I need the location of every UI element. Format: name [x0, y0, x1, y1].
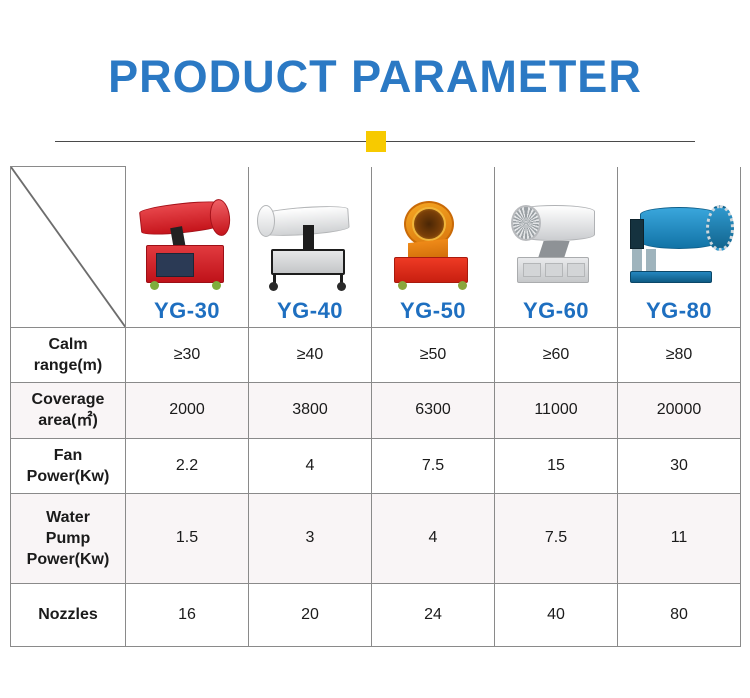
cell-calm-range-yg-50: ≥50: [372, 327, 495, 382]
product-name-2: YG-50: [400, 295, 466, 327]
row-label-line: range(m): [14, 355, 122, 376]
row-label-line: Pump: [14, 528, 122, 549]
cell-fan-power-yg-40: 4: [249, 438, 372, 493]
cell-fan-power-yg-60: 15: [495, 438, 618, 493]
table-row-water-pump-power: Water Pump Power(Kw) 1.5 3 4 7.5 11: [11, 493, 741, 583]
row-label-nozzles: Nozzles: [11, 583, 126, 646]
product-name-1: YG-40: [277, 295, 343, 327]
cell-fan-power-yg-30: 2.2: [126, 438, 249, 493]
cell-nozzles-yg-80: 80: [618, 583, 741, 646]
row-label-line: Power(Kw): [14, 466, 122, 487]
cell-nozzles-yg-60: 40: [495, 583, 618, 646]
table-row-fan-power: Fan Power(Kw) 2.2 4 7.5 15 30: [11, 438, 741, 493]
cell-calm-range-yg-80: ≥80: [618, 327, 741, 382]
cell-calm-range-yg-30: ≥30: [126, 327, 249, 382]
row-label-water-pump-power: Water Pump Power(Kw): [11, 493, 126, 583]
product-header-cell-3: YG-60: [495, 167, 618, 328]
page-title: PRODUCT PARAMETER: [0, 48, 750, 106]
table-row-coverage-area: Coverage area(㎡) 2000 3800 6300 11000 20…: [11, 382, 741, 438]
row-label-line: Calm: [14, 334, 122, 355]
table-header-row: YG-30: [11, 167, 741, 328]
product-image-yg-60: [501, 197, 611, 293]
cell-coverage-area-yg-60: 11000: [495, 382, 618, 438]
cell-coverage-area-yg-40: 3800: [249, 382, 372, 438]
product-header-cell-4: YG-80: [618, 167, 741, 328]
cell-calm-range-yg-40: ≥40: [249, 327, 372, 382]
row-label-line: Power(Kw): [14, 549, 122, 570]
cell-fan-power-yg-50: 7.5: [372, 438, 495, 493]
page-title-block: PRODUCT PARAMETER: [0, 48, 750, 106]
product-image-yg-30: [132, 197, 242, 293]
parameter-table: YG-30: [10, 166, 741, 647]
cell-nozzles-yg-50: 24: [372, 583, 495, 646]
row-label-line: Nozzles: [14, 604, 122, 625]
row-label-calm-range: Calm range(m): [11, 327, 126, 382]
cell-nozzles-yg-30: 16: [126, 583, 249, 646]
product-name-3: YG-60: [523, 295, 589, 327]
diagonal-divider-icon: [11, 167, 125, 327]
cell-water-pump-power-yg-40: 3: [249, 493, 372, 583]
row-label-line: Water: [14, 507, 122, 528]
divider-badge-icon: [366, 131, 386, 152]
cell-coverage-area-yg-30: 2000: [126, 382, 249, 438]
row-label-coverage-area: Coverage area(㎡): [11, 382, 126, 438]
product-image-yg-50: [378, 197, 488, 293]
title-divider: [55, 130, 695, 152]
cell-water-pump-power-yg-30: 1.5: [126, 493, 249, 583]
product-image-yg-80: [624, 197, 734, 293]
product-image-yg-40: [255, 197, 365, 293]
cell-coverage-area-yg-80: 20000: [618, 382, 741, 438]
cell-water-pump-power-yg-50: 4: [372, 493, 495, 583]
row-label-line: area(㎡): [14, 410, 122, 431]
cell-water-pump-power-yg-60: 7.5: [495, 493, 618, 583]
product-header-cell-2: YG-50: [372, 167, 495, 328]
product-header-cell-1: YG-40: [249, 167, 372, 328]
cell-calm-range-yg-60: ≥60: [495, 327, 618, 382]
product-name-4: YG-80: [646, 295, 712, 327]
cell-nozzles-yg-40: 20: [249, 583, 372, 646]
cell-water-pump-power-yg-80: 11: [618, 493, 741, 583]
table-corner-cell: [11, 167, 126, 328]
row-label-line: Coverage: [14, 389, 122, 410]
cell-fan-power-yg-80: 30: [618, 438, 741, 493]
product-header-cell-0: YG-30: [126, 167, 249, 328]
row-label-line: Fan: [14, 445, 122, 466]
product-name-0: YG-30: [154, 295, 220, 327]
table-row-nozzles: Nozzles 16 20 24 40 80: [11, 583, 741, 646]
cell-coverage-area-yg-50: 6300: [372, 382, 495, 438]
table-row-calm-range: Calm range(m) ≥30 ≥40 ≥50 ≥60 ≥80: [11, 327, 741, 382]
row-label-fan-power: Fan Power(Kw): [11, 438, 126, 493]
product-parameter-page: PRODUCT PARAMETER: [0, 0, 750, 698]
